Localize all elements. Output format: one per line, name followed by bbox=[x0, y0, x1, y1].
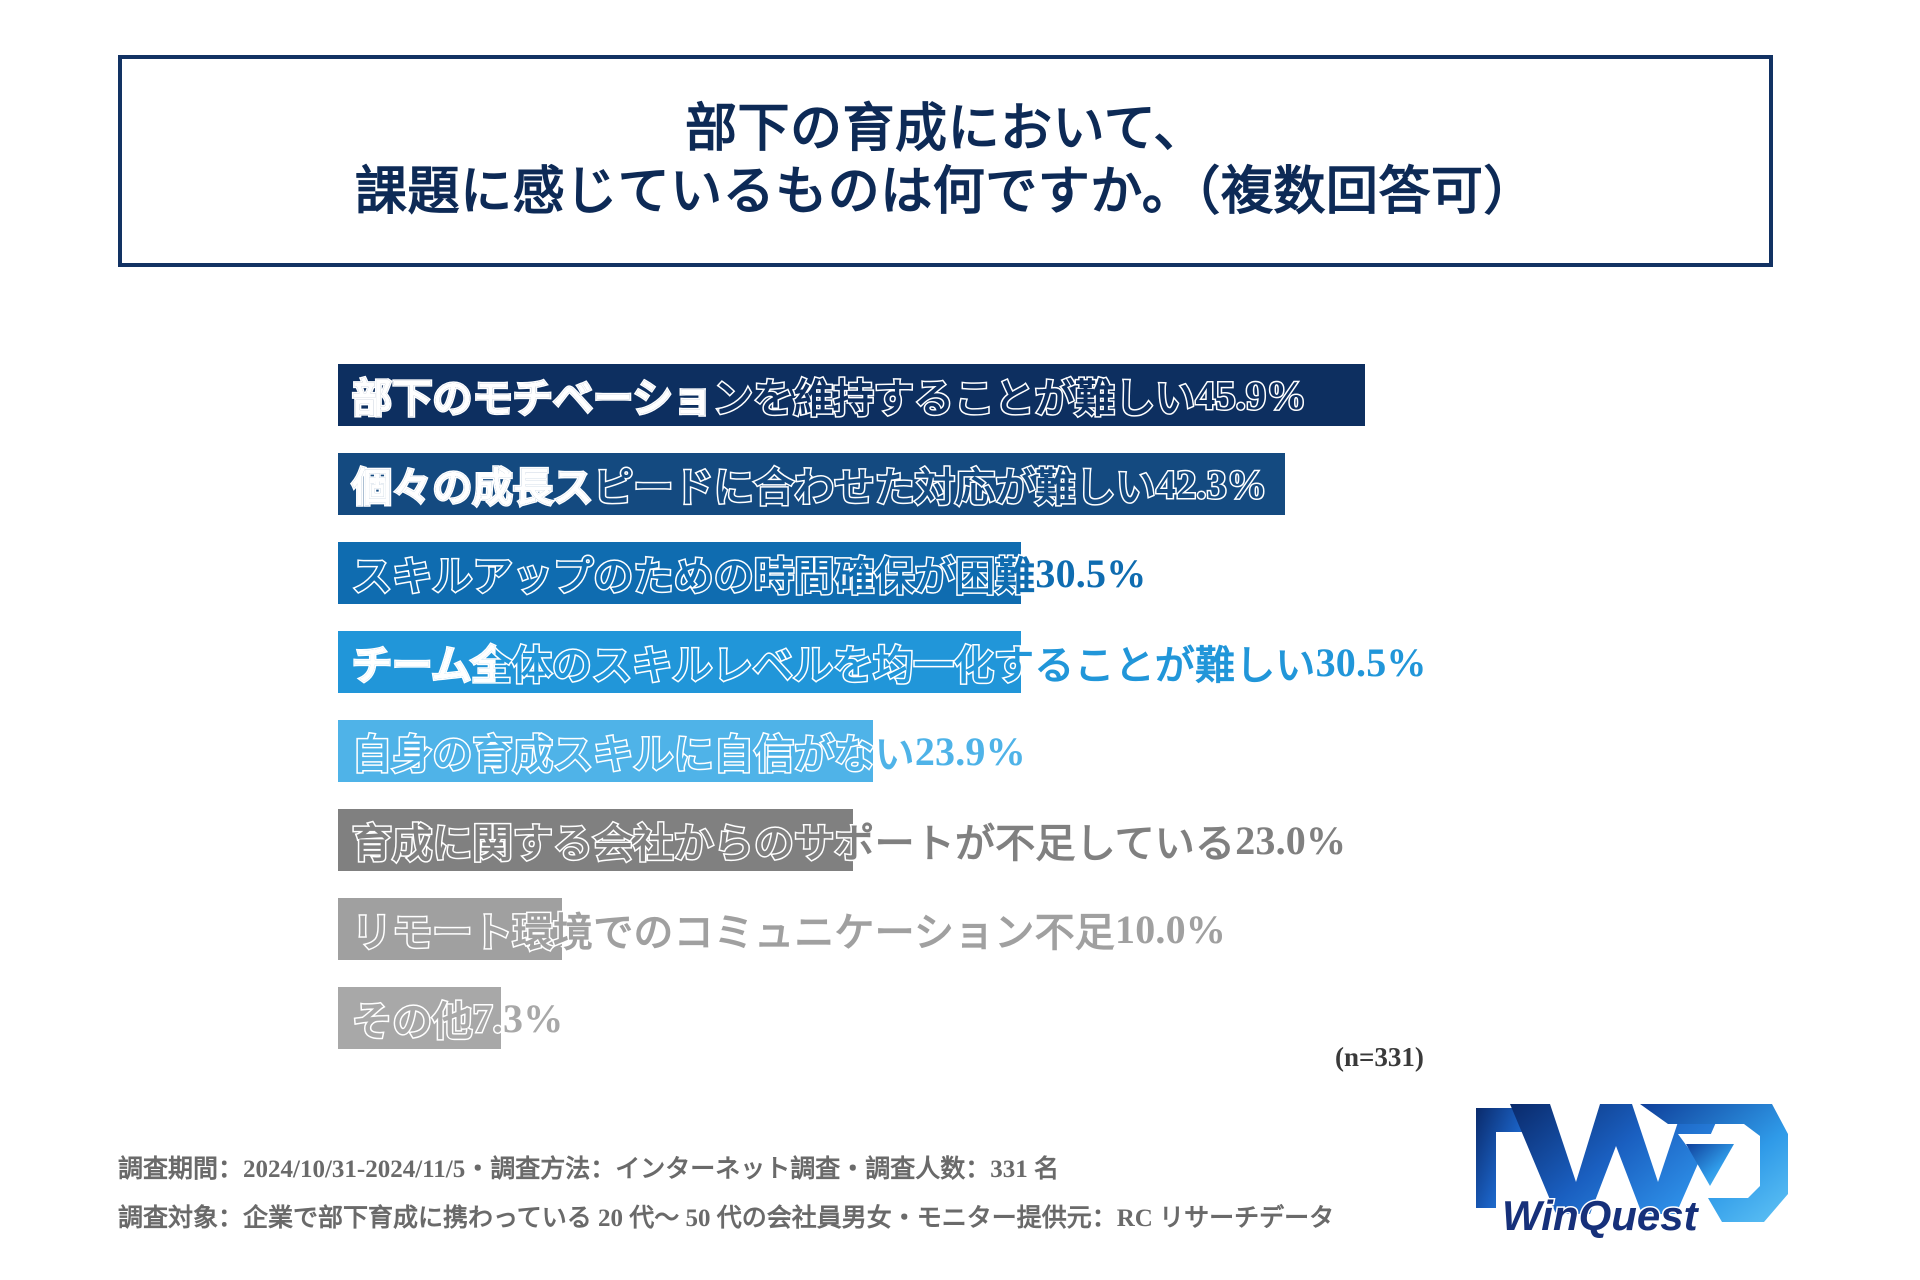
bar-value-label: 23.9% bbox=[915, 728, 1026, 775]
chart-bar-row: 部下のモチベーションを維持することが難しい45.9%部下のモチベーションを維持す… bbox=[0, 352, 1920, 441]
bar-label-outline: スキルアップのための時間確保が困難30.5% bbox=[352, 542, 1146, 604]
page-title-line-1: 部下の育成において、 bbox=[685, 98, 1206, 161]
footnote-line-1: 調査期間：2024/10/31-2024/11/5・調査方法：インターネット調査… bbox=[118, 1146, 1418, 1195]
bar-category-label: その他 bbox=[352, 989, 473, 1047]
bar-value-label: 7.3% bbox=[473, 995, 564, 1042]
winquest-wordmark: WinQuest bbox=[1502, 1192, 1700, 1240]
bar-value-label: 42.3% bbox=[1156, 461, 1267, 508]
winquest-logo-icon: WinQuest bbox=[1472, 1090, 1792, 1250]
bar-value-label: 23.0% bbox=[1235, 817, 1346, 864]
bar-category-label: スキルアップのための時間確保が困難 bbox=[352, 544, 1035, 602]
bar-category-label: リモート環境でのコミュニケーション不足 bbox=[352, 900, 1115, 958]
bar-label-outline: その他7.3% bbox=[352, 987, 563, 1049]
bar-category-label: チーム全体のスキルレベルを均一化することが難しい bbox=[352, 633, 1316, 691]
bar-category-label: 自身の育成スキルに自信がない bbox=[352, 722, 915, 780]
winquest-logo: WinQuest bbox=[1472, 1090, 1792, 1250]
bar-label-outline: チーム全体のスキルレベルを均一化することが難しい30.5% bbox=[352, 631, 1427, 693]
title-box: 部下の育成において、 課題に感じているものは何ですか。（複数回答可） bbox=[118, 55, 1773, 267]
bar-chart: 部下のモチベーションを維持することが難しい45.9%部下のモチベーションを維持す… bbox=[0, 352, 1920, 1072]
bar-label-outline: リモート環境でのコミュニケーション不足10.0% bbox=[352, 898, 1226, 960]
chart-bar-row: リモート環境でのコミュニケーション不足10.0%リモート環境でのコミュニケーショ… bbox=[0, 886, 1920, 975]
bar-value-label: 30.5% bbox=[1316, 639, 1427, 686]
chart-bar-row: 自身の育成スキルに自信がない23.9%自身の育成スキルに自信がない23.9% bbox=[0, 708, 1920, 797]
chart-bar-row: 個々の成長スピードに合わせた対応が難しい42.3%個々の成長スピードに合わせた対… bbox=[0, 441, 1920, 530]
chart-bar-row: 育成に関する会社からのサポートが不足している23.0%育成に関する会社からのサポ… bbox=[0, 797, 1920, 886]
chart-bar-row: チーム全体のスキルレベルを均一化することが難しい30.5%チーム全体のスキルレベ… bbox=[0, 619, 1920, 708]
chart-bar-row: スキルアップのための時間確保が困難30.5%スキルアップのための時間確保が困難3… bbox=[0, 530, 1920, 619]
footnote-line-2: 調査対象：企業で部下育成に携わっている 20 代〜 50 代の会社員男女・モニタ… bbox=[118, 1195, 1418, 1244]
bar-value-label: 10.0% bbox=[1115, 906, 1226, 953]
page-title-line-2: 課題に感じているものは何ですか。（複数回答可） bbox=[355, 161, 1536, 224]
infographic-canvas: 部下の育成において、 課題に感じているものは何ですか。（複数回答可） 部下のモチ… bbox=[0, 0, 1920, 1280]
bar-value-label: 45.9% bbox=[1195, 372, 1306, 419]
bar-category-label: 育成に関する会社からのサポートが不足している bbox=[352, 811, 1235, 869]
survey-footnote: 調査期間：2024/10/31-2024/11/5・調査方法：インターネット調査… bbox=[118, 1146, 1418, 1244]
chart-bar-row: その他7.3%その他7.3% bbox=[0, 975, 1920, 1064]
bar-label-outline: 育成に関する会社からのサポートが不足している23.0% bbox=[352, 809, 1346, 871]
bar-value-label: 30.5% bbox=[1035, 550, 1146, 597]
bar-label-outline: 自身の育成スキルに自信がない23.9% bbox=[352, 720, 1026, 782]
sample-size-label: (n=331) bbox=[1335, 1042, 1424, 1073]
